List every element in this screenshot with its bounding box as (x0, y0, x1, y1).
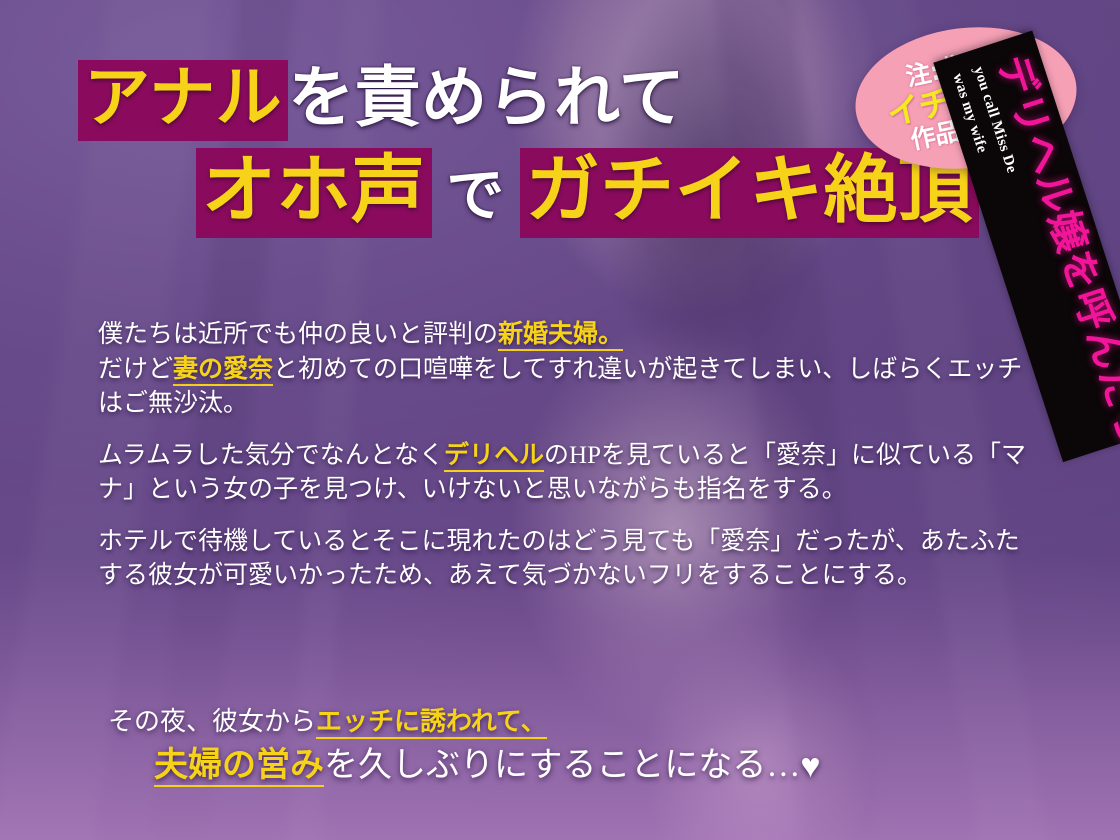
synopsis-text: だけど (98, 356, 173, 383)
synopsis-highlight: 新婚夫婦。 (498, 321, 623, 351)
headline-line-2-mid: で (432, 165, 520, 228)
synopsis-block: 僕たちは近所でも仲の良いと評判の新婚夫婦。だけど妻の愛奈と初めての口喧嘩をしてす… (98, 318, 1028, 594)
headline-highlight-ohogoe: オホ声 (196, 148, 432, 238)
closing-line-2: 夫婦の営みを久しぶりにすることになる…♥ (154, 745, 1028, 789)
synopsis-paragraph: ホテルで待機しているとそこに現れたのはどう見ても「愛奈」だったが、あたふたする彼… (98, 525, 1028, 594)
synopsis-text: ムラムラした気分でなんとなく (98, 442, 444, 469)
synopsis-highlight: デリヘル (444, 442, 544, 472)
synopsis-paragraph: 僕たちは近所でも仲の良いと評判の新婚夫婦。だけど妻の愛奈と初めての口喧嘩をしてす… (98, 318, 1028, 422)
closing-line-1: その夜、彼女からエッチに誘われて、 (108, 706, 1028, 737)
synopsis-paragraph: ムラムラした気分でなんとなくデリヘルのHPを見ていると「愛奈」に似ている「マナ」… (98, 439, 1028, 508)
synopsis-text: ホテルで待機しているとそこに現れたのはどう見ても「愛奈」だったが、あたふたする彼… (98, 528, 1020, 590)
closing-block: その夜、彼女からエッチに誘われて、 夫婦の営みを久しぶりにすることになる…♥ (108, 706, 1028, 789)
synopsis-highlight: 妻の愛奈 (173, 356, 273, 386)
closing-line-1-highlight: エッチに誘われて、 (316, 707, 547, 739)
closing-line-2-highlight: 夫婦の営み (154, 747, 324, 787)
heart-icon: ♥ (800, 748, 820, 785)
closing-line-2-rest: を久しぶりにすることになる… (324, 747, 800, 784)
synopsis-text: 僕たちは近所でも仲の良いと評判の (98, 321, 498, 348)
promo-banner-stage: アナルを責められて オホ声 で ガチイキ絶頂 注:非NTR イチャラブ 作品です… (0, 0, 1120, 840)
closing-line-1-pre: その夜、彼女から (108, 707, 316, 736)
headline-highlight-anal: アナル (78, 60, 288, 141)
headline-line-1-rest: を責められて (288, 62, 685, 135)
